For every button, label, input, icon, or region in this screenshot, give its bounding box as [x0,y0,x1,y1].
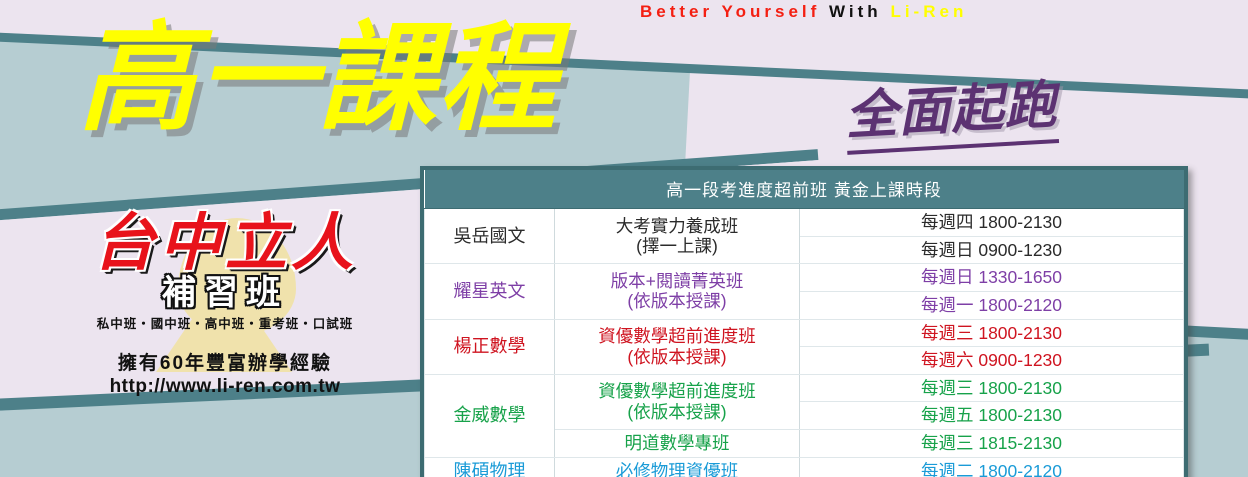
schedule-table: 高一段考進度超前班 黃金上課時段 吳岳國文大考實力養成班(擇一上課)每週四 18… [424,170,1184,477]
table-header-row: 高一段考進度超前班 黃金上課時段 [425,170,1184,209]
tagline-part2: With [829,2,882,21]
class-time: 每週六 0900-1230 [800,347,1184,375]
teacher-name: 陳碩物理 [425,457,555,477]
tagline: Better Yourself With Li-Ren [640,2,967,22]
teacher-name: 楊正數學 [425,319,555,374]
class-time: 每週三 1800-2130 [800,319,1184,347]
class-time: 每週五 1800-2130 [800,402,1184,430]
teacher-name: 耀星英文 [425,264,555,319]
table-row: 金威數學資優數學超前進度班(依版本授課)每週三 1800-2130 [425,374,1184,402]
table-row: 陳碩物理必修物理資優班每週二 1800-2120 [425,457,1184,477]
logo-name: 台中立人 [60,212,390,274]
class-time: 每週日 0900-1230 [800,236,1184,264]
class-time: 每週四 1800-2130 [800,209,1184,237]
course-name: 版本+閱讀菁英班(依版本授課) [555,264,800,319]
class-time: 每週三 1815-2130 [800,430,1184,458]
logo-url[interactable]: http://www.li-ren.com.tw [60,376,390,398]
teacher-name: 吳岳國文 [425,209,555,264]
schedule-body: 吳岳國文大考實力養成班(擇一上課)每週四 1800-2130每週日 0900-1… [425,209,1184,477]
logo: 台中立人 補習班 私中班・國中班・高中班・重考班・口試班 擁有60年豐富辦學經驗… [60,212,390,398]
logo-class-list: 私中班・國中班・高中班・重考班・口試班 [60,313,390,332]
class-time: 每週二 1800-2120 [800,457,1184,477]
course-name: 資優數學超前進度班(依版本授課) [555,374,800,429]
class-time: 每週三 1800-2130 [800,374,1184,402]
logo-type: 補習班 [60,276,390,310]
table-row: 楊正數學資優數學超前進度班(依版本授課)每週三 1800-2130 [425,319,1184,347]
tagline-part3: Li-Ren [890,2,967,21]
schedule-table-container: 高一段考進度超前班 黃金上課時段 吳岳國文大考實力養成班(擇一上課)每週四 18… [420,166,1188,477]
page-subtitle: 全面起跑 [843,62,1059,155]
class-time: 每週日 1330-1650 [800,264,1184,292]
course-name-extra: 明道數學專班 [555,430,800,458]
table-row: 吳岳國文大考實力養成班(擇一上課)每週四 1800-2130 [425,209,1184,237]
poster-root: Better Yourself With Li-Ren 高一課程 全面起跑 台中… [0,0,1248,477]
table-row: 耀星英文版本+閱讀菁英班(依版本授課)每週日 1330-1650 [425,264,1184,292]
page-title: 高一課程 [78,16,558,140]
class-time: 每週一 1800-2120 [800,291,1184,319]
course-name: 資優數學超前進度班(依版本授課) [555,319,800,374]
course-name: 必修物理資優班 [555,457,800,477]
schedule-header: 高一段考進度超前班 黃金上課時段 [425,170,1184,209]
teacher-name: 金威數學 [425,374,555,457]
course-name: 大考實力養成班(擇一上課) [555,209,800,264]
logo-experience: 擁有60年豐富辦學經驗 [60,348,390,375]
tagline-part1: Better Yourself [640,2,820,21]
